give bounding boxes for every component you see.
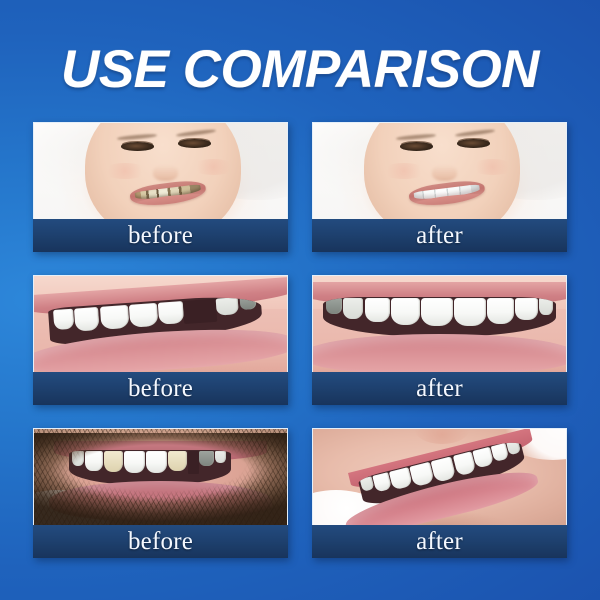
comparison-cell-row3-after: after <box>312 428 567 558</box>
tilted-smile-white-teeth-photo <box>312 428 567 525</box>
caption-bar: before <box>33 372 288 405</box>
comparison-cell-row1-before: before <box>33 122 288 252</box>
caption-label: before <box>128 529 193 554</box>
closeup-smile-complete-teeth-photo <box>312 275 567 372</box>
poster-header: USE COMPARISON <box>0 36 600 102</box>
woman-face-crooked-teeth-photo <box>33 122 288 219</box>
caption-label: before <box>128 376 193 401</box>
caption-label: after <box>416 223 463 248</box>
closeup-smile-missing-tooth-photo <box>33 275 288 372</box>
bearded-man-damaged-teeth-photo <box>33 428 288 525</box>
caption-label: after <box>416 376 463 401</box>
comparison-cell-row2-before: before <box>33 275 288 405</box>
caption-bar: after <box>312 219 567 252</box>
caption-bar: after <box>312 372 567 405</box>
comparison-cell-row1-after: after <box>312 122 567 252</box>
comparison-cell-row2-after: after <box>312 275 567 405</box>
caption-label: before <box>128 223 193 248</box>
caption-bar: before <box>33 219 288 252</box>
woman-face-white-teeth-photo <box>312 122 567 219</box>
caption-bar: after <box>312 525 567 558</box>
caption-bar: before <box>33 525 288 558</box>
page-title: USE COMPARISON <box>61 43 539 96</box>
comparison-cell-row3-before: before <box>33 428 288 558</box>
caption-label: after <box>416 529 463 554</box>
use-comparison-poster: USE COMPARISON <box>0 0 600 600</box>
comparison-grid: before <box>33 122 567 574</box>
